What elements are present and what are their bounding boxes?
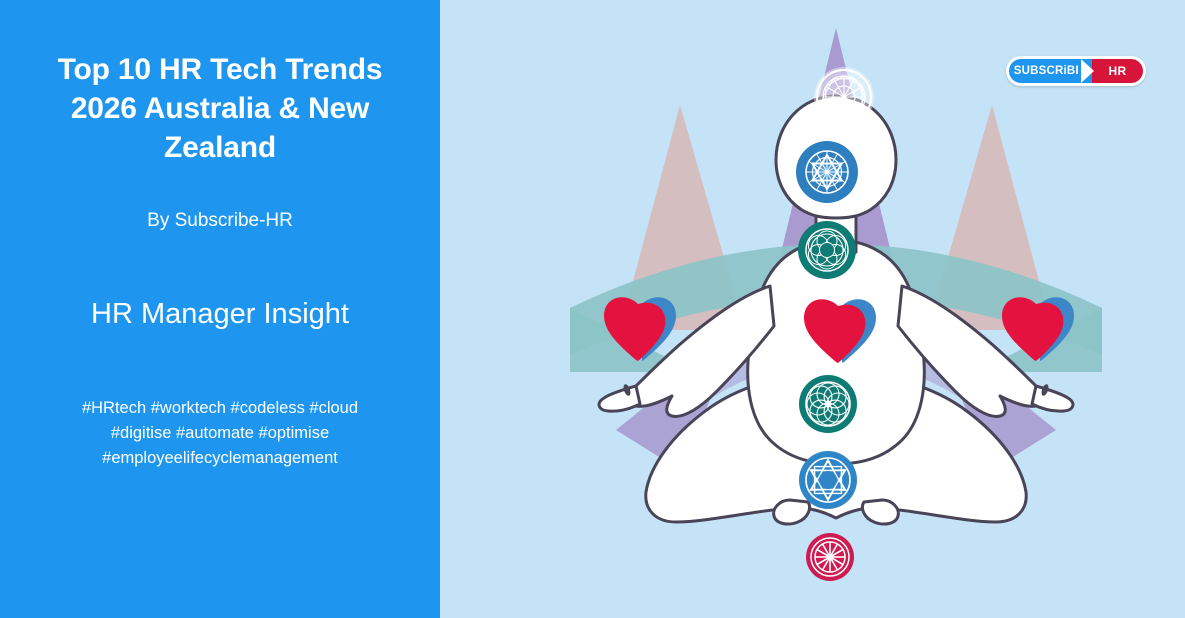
artwork-panel: SUBSCRiBE HR (440, 0, 1185, 618)
left-text-panel: Top 10 HR Tech Trends 2026 Australia & N… (0, 0, 440, 618)
hashtag-block: #HRtech #worktech #codeless #cloud #digi… (0, 396, 440, 471)
third-eye-chakra (796, 141, 858, 203)
title-line-2: 2026 Australia & New (22, 89, 418, 128)
slide-canvas: Top 10 HR Tech Trends 2026 Australia & N… (0, 0, 1185, 618)
title-line-1: Top 10 HR Tech Trends (22, 50, 418, 89)
logo-inner: SUBSCRiBE HR (1009, 59, 1143, 83)
insight-heading: HR Manager Insight (0, 298, 440, 331)
root-chakra (806, 533, 854, 581)
subscribe-hr-logo[interactable]: SUBSCRiBE HR (1006, 56, 1146, 86)
logo-word-subscribe: SUBSCRiBE (1009, 59, 1092, 83)
byline: By Subscribe-HR (0, 210, 440, 232)
hashtag-line-1: #HRtech #worktech #codeless #cloud (0, 396, 440, 421)
solar-plexus-chakra (799, 375, 857, 433)
hashtag-line-2: #digitise #automate #optimise (0, 421, 440, 446)
page-title: Top 10 HR Tech Trends 2026 Australia & N… (0, 50, 440, 167)
sacral-chakra (799, 451, 857, 509)
logo-word-hr: HR (1092, 59, 1143, 83)
meditating-figure-illustration (440, 0, 1185, 618)
title-line-3: Zealand (22, 128, 418, 167)
crown-chakra (814, 67, 874, 127)
hashtag-line-3: #employeelifecyclemanagement (0, 446, 440, 471)
throat-chakra (798, 221, 856, 279)
